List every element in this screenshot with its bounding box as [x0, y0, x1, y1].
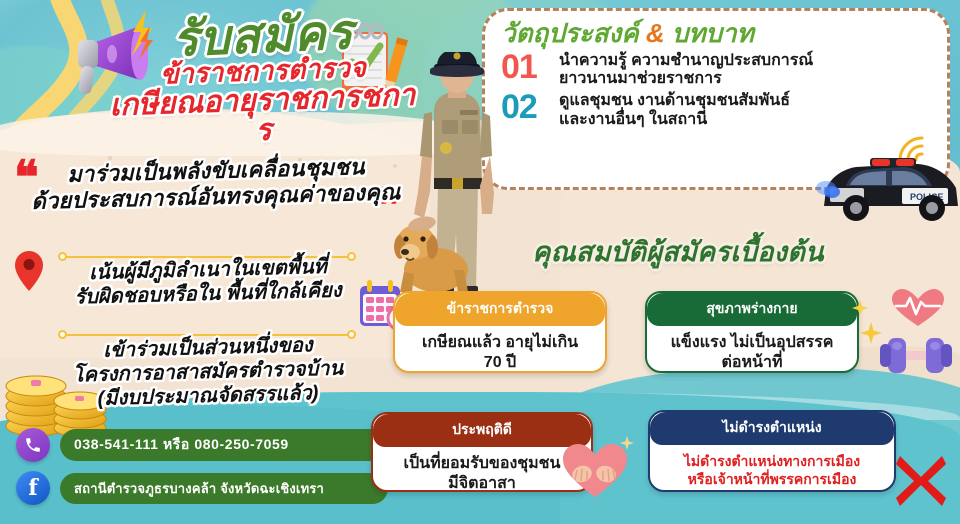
objective-text-01-line-1: นำความรู้ ความชำนาญประสบการณ์ — [559, 52, 813, 70]
left-block-region: เน้นผู้มีภูมิลำเนาในเขตพื้นที่ รับผิดชอบ… — [18, 258, 398, 306]
objective-title: วัตถุประสงค์ & บทบาท — [501, 19, 933, 48]
qualification-card-position-line-2: หรือเจ้าหน้าที่พรรคการเมือง — [658, 470, 886, 488]
sparkle-icon-small — [620, 436, 634, 450]
heart-pulse-icon — [890, 288, 946, 328]
contact-row-phone[interactable]: 038-541-111 หรือ 080-250-7059 — [16, 428, 388, 462]
police-car-photo: POLICE — [816, 148, 960, 226]
contact-row-facebook[interactable]: f สถานีตำรวจภูธรบางคล้า จังหวัดฉะเชิงเทร… — [16, 471, 388, 505]
objective-item-01: 01 นำความรู้ ความชำนาญประสบการณ์ ยาวนานม… — [501, 50, 933, 89]
facebook-icon: f — [16, 471, 50, 505]
objective-title-sub: บทบาท — [672, 18, 754, 48]
contact-block: 038-541-111 หรือ 080-250-7059 f สถานีตำร… — [16, 428, 388, 514]
qualification-card-police-body: เกษียณแล้ว อายุไม่เกิน 70 ปี — [395, 326, 605, 373]
objective-title-main: วัตถุประสงค์ — [501, 18, 639, 48]
qualification-card-police: ข้าราชการตำรวจ เกษียณแล้ว อายุไม่เกิน 70… — [393, 291, 607, 373]
qualifications-heading: คุณสมบัติผู้สมัครเบื้องต้น — [478, 238, 878, 268]
objective-title-ampersand: & — [646, 18, 665, 48]
qualification-card-police-line-1: เกษียณแล้ว อายุไม่เกิน — [403, 333, 597, 353]
qualification-card-health-header: สุขภาพร่างกาย — [647, 293, 857, 326]
qualification-card-police-line-2: 70 ปี — [403, 353, 597, 373]
qualification-card-conduct-body: เป็นที่ยอมรับของชุมชน มีจิตอาสา — [373, 447, 591, 492]
facebook-page-name: สถานีตำรวจภูธรบางคล้า จังหวัดฉะเชิงเทรา — [60, 473, 388, 504]
sparkle-icon — [852, 300, 868, 316]
qualification-card-position: ไม่ดำรงตำแหน่ง ไม่ดำรงตำแหน่งทางการเมือง… — [648, 410, 896, 492]
qualification-card-police-header: ข้าราชการตำรวจ — [395, 293, 605, 326]
red-cross-x-icon — [892, 452, 950, 510]
qualification-card-health: สุขภาพร่างกาย แข็งแรง ไม่เป็นอุปสรรค ต่อ… — [645, 291, 859, 373]
qualification-card-conduct-line-1: เป็นที่ยอมรับของชุมชน — [381, 454, 583, 474]
phone-icon — [16, 428, 50, 462]
qualification-card-health-body: แข็งแรง ไม่เป็นอุปสรรค ต่อหน้าที่ — [647, 326, 857, 373]
objective-text-02-line-2: และงานอื่นๆ ในสถานี — [559, 111, 790, 129]
quote-block: มาร่วมเป็นพลังขับเคลื่อนชุมชน ด้วยประสบก… — [16, 158, 416, 210]
title-line-3: เกษียณอายุราชการชการ — [107, 80, 419, 151]
qualification-card-health-line-1: แข็งแรง ไม่เป็นอุปสรรค — [655, 333, 849, 353]
objective-text-02: ดูแลชุมชน งานด้านชุมชนสัมพันธ์ และงานอื่… — [559, 90, 790, 129]
poster-root: รับสมัคร ข้าราชการตำรวจ เกษียณอายุราชการ… — [0, 0, 960, 524]
qualification-card-position-header: ไม่ดำรงตำแหน่ง — [650, 412, 894, 445]
objective-text-02-line-1: ดูแลชุมชน งานด้านชุมชนสัมพันธ์ — [559, 92, 790, 110]
qualification-card-position-body: ไม่ดำรงตำแหน่งทางการเมือง หรือเจ้าหน้าที… — [650, 445, 894, 492]
objective-text-01: นำความรู้ ความชำนาญประสบการณ์ ยาวนานมาช่… — [559, 50, 813, 89]
objective-item-02: 02 ดูแลชุมชน งานด้านชุมชนสัมพันธ์ และงาน… — [501, 90, 933, 129]
qualification-card-health-line-2: ต่อหน้าที่ — [655, 353, 849, 373]
poster-title: รับสมัคร ข้าราชการตำรวจ เกษียณอายุราชการ… — [108, 14, 418, 146]
sparkle-icon-large — [860, 322, 882, 344]
qualification-card-conduct-header: ประพฤติดี — [373, 414, 591, 447]
qualification-card-conduct-line-2: มีจิตอาสา — [381, 474, 583, 492]
left-block-2-region: เข้าร่วมเป็นส่วนหนึ่งของ โครงการอาสาสมัค… — [18, 336, 398, 408]
qualification-card-position-line-1: ไม่ดำรงตำแหน่งทางการเมือง — [658, 452, 886, 470]
dumbbell-icon — [876, 330, 954, 382]
phone-number: 038-541-111 หรือ 080-250-7059 — [60, 429, 388, 461]
objective-text-01-line-2: ยาวนานมาช่วยราชการ — [559, 70, 813, 88]
